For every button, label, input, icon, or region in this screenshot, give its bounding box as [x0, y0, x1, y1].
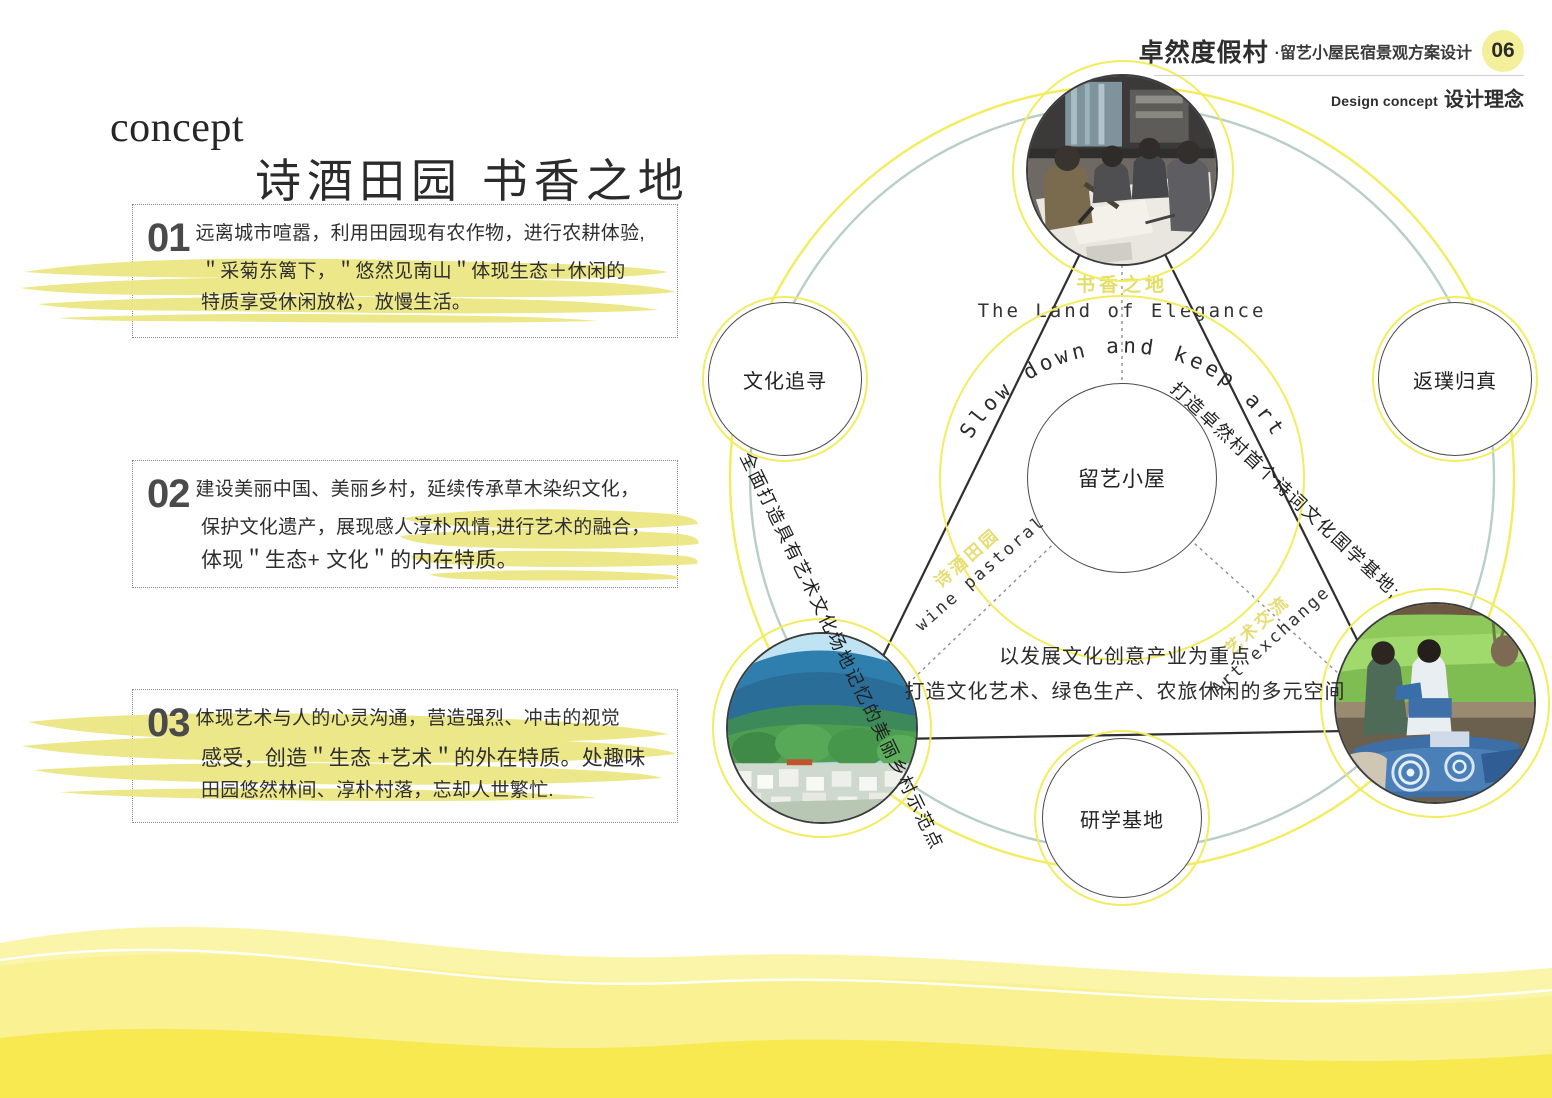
satellite-label: 文化追寻 — [743, 365, 827, 394]
satellite-node-culture[interactable]: 文化追寻 — [708, 302, 862, 456]
satellite-node-study-base[interactable]: 研学基地 — [1042, 738, 1202, 898]
statement-line-1: 以发展文化创意产业为重点 — [890, 640, 1360, 675]
block-line: 保护文化遗产，展现感人淳朴风情,进行艺术的融合， — [201, 513, 661, 544]
concept-block-01: 01 远离城市喧嚣，利用田园现有农作物，进行农耕体验, ＂采菊东篱下，＂悠然见南… — [132, 204, 678, 338]
concept-block-02: 02 建设美丽中国、美丽乡村，延续传承草木染织文化， 保护文化遗产，展现感人淳朴… — [132, 460, 678, 588]
page-number-badge: 06 — [1482, 30, 1524, 72]
brand-subtitle: ·留艺小屋民宿景观方案设计 — [1275, 39, 1472, 63]
block-line: ＂采菊东篱下，＂悠然见南山＂体现生态＋休闲的 — [201, 257, 661, 288]
satellite-node-simplicity[interactable]: 返璞归真 — [1378, 302, 1532, 456]
slide-header: 卓然度假村 ·留艺小屋民宿景观方案设计 06 Design concept设计理… — [1139, 30, 1524, 112]
block-line: 建设美丽中国、美丽乡村，延续传承草木染织文化， — [196, 475, 640, 506]
diagram-statement: 以发展文化创意产业为重点 打造文化艺术、绿色生产、农旅休闲的多元空间 — [890, 640, 1360, 710]
satellite-label: 研学基地 — [1080, 804, 1164, 833]
block-line: 特质享受休闲放松，放慢生活。 — [201, 288, 661, 319]
block-line: 体现艺术与人的心灵沟通，营造强烈、冲击的视觉 — [196, 704, 621, 735]
statement-line-2: 打造文化艺术、绿色生产、农旅休闲的多元空间 — [890, 675, 1360, 710]
section-label-en: Design concept — [1331, 93, 1438, 109]
block-line: 感受，创造＂生态 +艺术＂的外在特质。处趣味 — [201, 742, 661, 776]
satellite-label: 返璞归真 — [1413, 365, 1497, 394]
main-heading: 诗酒田园 书香之地 — [255, 145, 690, 211]
block-number: 03 — [147, 704, 190, 742]
block-line: 体现＂生态+ 文化＂的内在特质。 — [201, 544, 661, 578]
block-line: 远离城市喧嚣，利用田园现有农作物，进行农耕体验, — [196, 219, 645, 250]
center-node-label: 留艺小屋 — [1078, 463, 1166, 493]
header-divider — [1154, 75, 1524, 76]
block-line: 田园悠然林间、淳朴村落，忘却人世繁忙. — [201, 776, 661, 807]
concept-diagram: Slow down and keep art 书香之地 The Land of … — [690, 40, 1550, 920]
photo-indigo-dyeing[interactable] — [1334, 602, 1536, 804]
slide-canvas: 卓然度假村 ·留艺小屋民宿景观方案设计 06 Design concept设计理… — [0, 0, 1552, 1098]
concept-block-03: 03 体现艺术与人的心灵沟通，营造强烈、冲击的视觉 感受，创造＂生态 +艺术＂的… — [132, 689, 678, 823]
brand-title: 卓然度假村 — [1139, 33, 1269, 69]
block-number: 02 — [147, 475, 190, 513]
block-number: 01 — [147, 219, 190, 257]
section-label-cn: 设计理念 — [1444, 89, 1524, 111]
page-title: concept — [110, 104, 244, 152]
